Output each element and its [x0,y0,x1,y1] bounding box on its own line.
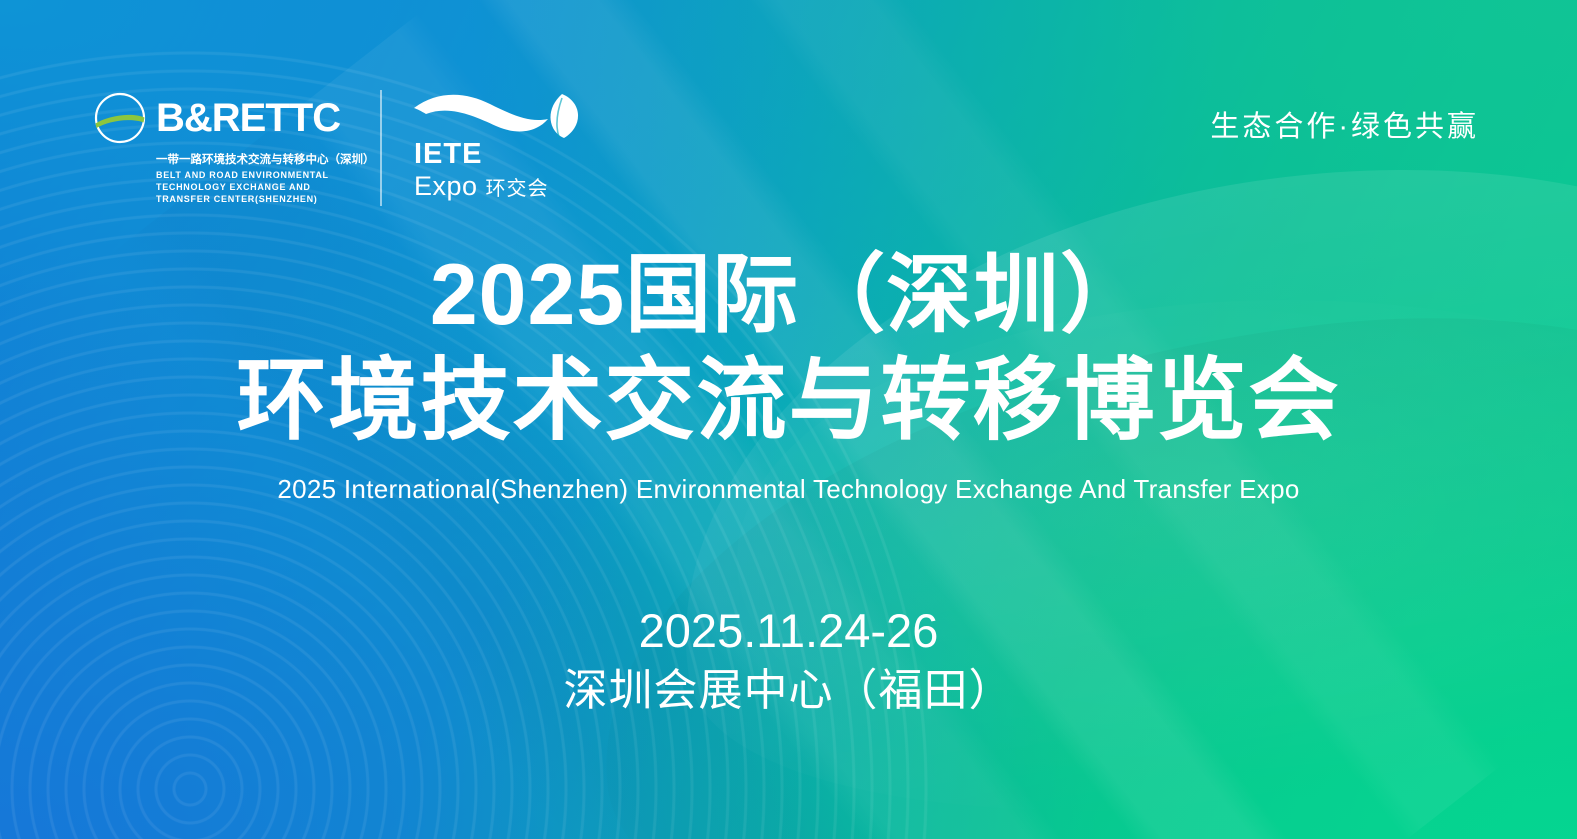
iete-expo-label: Expo [414,173,478,200]
brettc-wordmark: B&RETTC [156,98,340,138]
iete-sub-row: Expo 环交会 [414,173,549,200]
event-date: 2025.11.24-26 [0,604,1577,658]
event-details: 2025.11.24-26 深圳会展中心（福田） [0,604,1577,717]
title-block: 2025国际（深圳） 环境技术交流与转移博览会 2025 Internation… [0,252,1577,505]
banner-header: B&RETTC 一带一路环境技术交流与转移中心（深圳） BELT AND ROA… [0,0,1577,210]
event-banner: B&RETTC 一带一路环境技术交流与转移中心（深圳） BELT AND ROA… [0,0,1577,839]
brettc-logo: B&RETTC 一带一路环境技术交流与转移中心（深圳） BELT AND ROA… [92,90,382,206]
title-line-secondary: 环境技术交流与转移博览会 [0,356,1577,446]
globe-circle-band-icon [92,90,148,146]
logo-group: B&RETTC 一带一路环境技术交流与转移中心（深圳） BELT AND ROA… [92,90,584,206]
title-english-subtitle: 2025 International(Shenzhen) Environment… [0,474,1577,505]
brettc-chinese-name: 一带一路环境技术交流与转移中心（深圳） [156,151,354,167]
event-venue: 深圳会展中心（福田） [0,666,1577,717]
brettc-logo-top-row: B&RETTC [92,90,354,146]
iete-text-block: IETE Expo 环交会 [414,140,549,200]
iete-chinese-label: 环交会 [486,179,549,199]
banner-slogan: 生态合作·绿色共赢 [1210,103,1479,145]
title-line-primary: 2025国际（深圳） [0,252,1577,338]
iete-logo: IETE Expo 环交会 [412,92,584,198]
brettc-english-name: BELT AND ROAD ENVIRONMENTAL TECHNOLOGY E… [156,170,354,206]
iete-acronym: IETE [414,140,549,169]
